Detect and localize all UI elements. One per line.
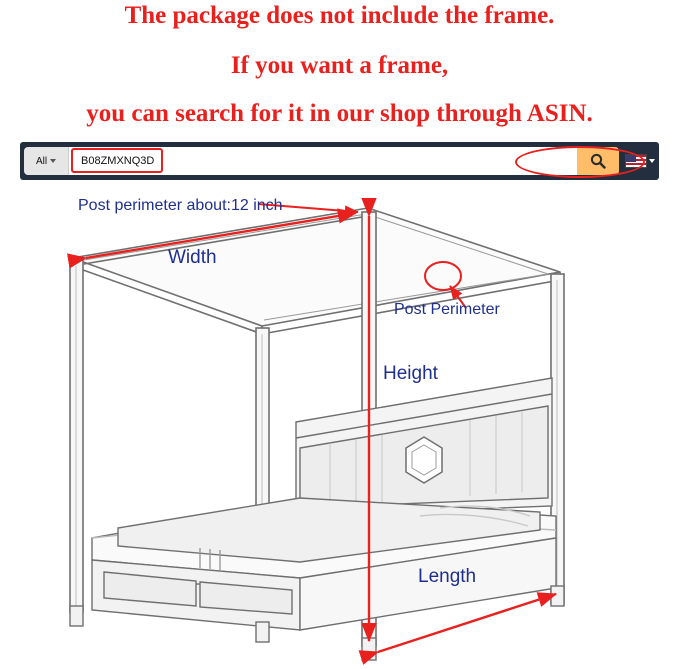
search-category-label: All [36,156,47,167]
us-flag-icon [625,154,647,168]
chevron-down-icon [649,159,655,163]
bed-diagram: Post perimeter about:12 inch Width Post … [0,186,679,669]
search-input[interactable]: B08ZMXNQ3D [69,147,577,175]
label-post-perimeter: Post Perimeter [394,301,500,319]
label-width: Width [168,247,217,269]
label-height: Height [383,363,438,385]
amazon-search-bar[interactable]: All B08ZMXNQ3D [20,142,659,180]
headline-line-3: you can search for it in our shop throug… [0,100,679,128]
headline-line-2: If you want a frame, [0,52,679,80]
search-category-select[interactable]: All [24,147,69,175]
chevron-down-icon [50,159,56,163]
headline-line-1: The package does not include the frame. [0,2,679,30]
bed-frame-drawing [0,186,679,669]
label-length: Length [418,566,476,588]
magnifier-icon [590,153,606,169]
label-post-perimeter-top: Post perimeter about:12 inch [78,197,283,215]
search-input-value: B08ZMXNQ3D [77,155,154,167]
page-root: The package does not include the frame. … [0,0,679,669]
search-button[interactable] [577,147,619,175]
locale-selector[interactable] [625,147,655,175]
